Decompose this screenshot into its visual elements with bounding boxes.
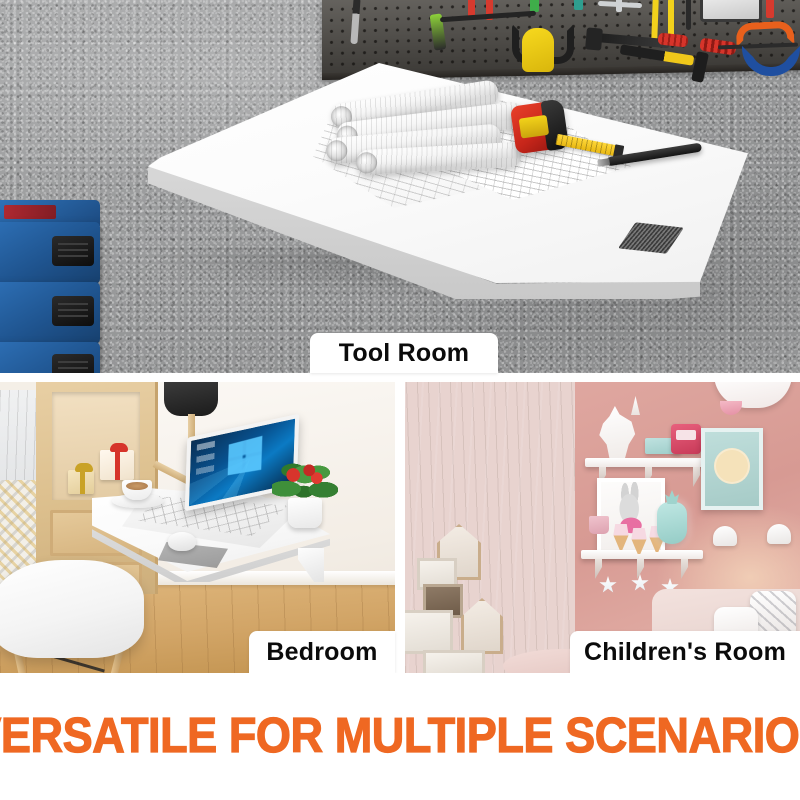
pineapple-lamp: [657, 502, 687, 544]
desktop-icons: [196, 441, 215, 485]
tool-case-1: [0, 222, 100, 284]
scene-photo-children-room: [405, 382, 800, 673]
tool-case-latch: [52, 236, 94, 266]
gift-box-gold: [68, 470, 94, 494]
pink-cup: [589, 516, 609, 534]
mint-framed-art: [701, 428, 763, 510]
red-tool-top-icon: [766, 0, 774, 18]
banner-headline: VERSATILE FOR MULTIPLE SCENARIOS: [0, 712, 800, 761]
square-shelf-box: [405, 610, 453, 654]
gift-bow: [75, 463, 93, 472]
white-chair: [0, 560, 144, 658]
computer-mouse: [168, 532, 196, 551]
wall-sconce-left: [713, 526, 737, 546]
tool-case-2: [0, 282, 100, 344]
toy-radio: [671, 424, 701, 454]
wall-sconce-right: [767, 524, 791, 544]
tool-case-brand-mark: [4, 205, 56, 219]
teal-tool-icon: [574, 0, 583, 10]
scene-label-text: Bedroom: [266, 638, 377, 667]
wall-shelf-lower: [581, 550, 703, 559]
black-rod-icon: [686, 0, 691, 30]
wall-shelf-upper: [585, 458, 717, 467]
scene-label-text: Children's Room: [584, 638, 786, 667]
gift-box-white: [100, 450, 134, 480]
square-shelf-box: [423, 650, 485, 673]
tool-case-latch: [52, 354, 94, 373]
hammer-head-icon: [585, 27, 603, 50]
hacksaw-handle-icon: [522, 28, 554, 72]
tool-case-3: [0, 342, 100, 373]
tape-measure-label: [519, 115, 550, 139]
scene-label-text: Tool Room: [339, 339, 469, 368]
scene-label-bedroom: Bedroom: [249, 631, 395, 673]
yellow-bar-2-icon: [668, 0, 674, 38]
gift-bow: [110, 443, 128, 452]
scene-photo-bedroom: [0, 382, 395, 673]
scene-label-children-room: Children's Room: [570, 631, 800, 673]
scene-label-tool-room: Tool Room: [310, 333, 498, 373]
screen-display-icon: [700, 0, 762, 22]
product-infographic: Tool Room: [0, 0, 800, 800]
tape-measure: [510, 100, 568, 155]
bottom-banner: VERSATILE FOR MULTIPLE SCENARIOS: [0, 673, 800, 800]
tool-case-latch: [52, 296, 94, 326]
plant-flowers: [284, 462, 326, 488]
wrench-head-icon: [616, 0, 622, 12]
scene-photo-tool-room: [0, 0, 800, 373]
desk-lamp-shade: [164, 382, 218, 416]
